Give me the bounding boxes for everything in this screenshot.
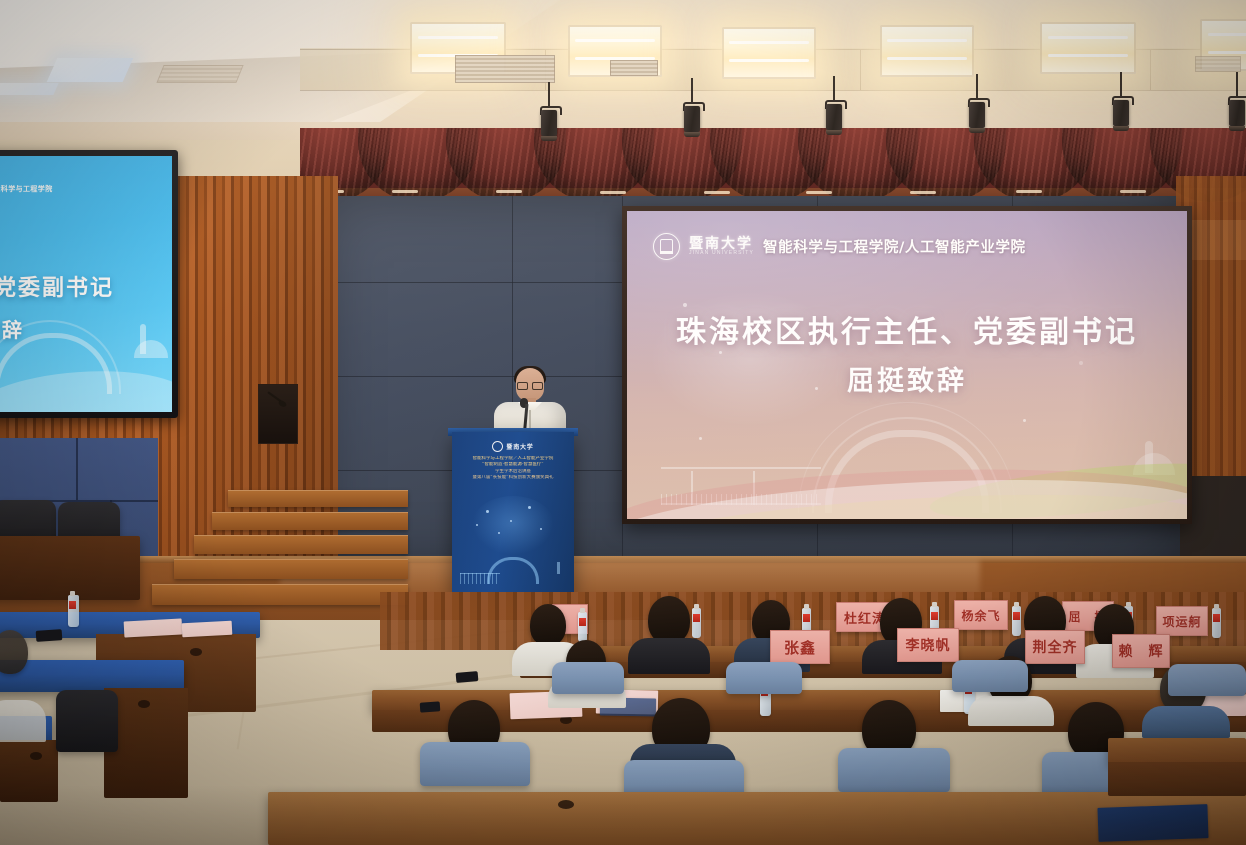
name-placard: 杨余飞 [954, 600, 1008, 630]
screen-header: 暨南大学 JINAN UNIVERSITY 智能科学与工程学院/人工智能产业学院 [653, 233, 1026, 260]
podium: 暨南大学 智能科学与工程学院／人工智能产业学院 “智能制造·智慧能源·智慧医疗”… [452, 432, 574, 592]
university-name-cn: 暨南大学 [689, 237, 754, 251]
water-bottle [692, 608, 701, 638]
university-name: 暨南大学 JINAN UNIVERSITY [689, 237, 754, 256]
podium-banner-text: 智能科学与工程学院／人工智能产业学院 “智能制造·智慧能源·智慧医疗” 学生学术… [458, 456, 568, 482]
water-bottle [68, 595, 79, 627]
water-bottle [578, 612, 587, 642]
ceiling-seam [1150, 50, 1151, 90]
side-desk [1108, 738, 1246, 764]
name-placard-label: 赖 辉 [1119, 641, 1164, 661]
projection-screen-frame: 暨南大学 JINAN UNIVERSITY 智能科学与工程学院/人工智能产业学院… [622, 206, 1192, 524]
side-display-screen: 智能科学与工程学院 主任、党委副书记 屈挺致辞 [0, 156, 172, 412]
water-bottle [1012, 606, 1021, 636]
ceiling-seam [860, 50, 861, 90]
desk-cable-hole [138, 700, 150, 708]
side-tv-department: 智能科学与工程学院 [0, 184, 53, 194]
ceiling-panel-light [880, 25, 974, 77]
smartphone [456, 671, 479, 683]
university-name-en: JINAN UNIVERSITY [689, 251, 754, 256]
podium-logo: 暨南大学 [452, 441, 574, 452]
glasses-icon [517, 382, 543, 388]
audience-person-head [648, 596, 690, 644]
name-placard-label: 荆全齐 [1033, 637, 1078, 657]
conference-hall-photo: 智能科学与工程学院 主任、党委副书记 屈挺致辞 暨南大学 JINAN UNIVE… [0, 0, 1246, 845]
ceiling-panel-light [1040, 22, 1136, 74]
desk-cable-hole [30, 752, 42, 760]
screen-department: 智能科学与工程学院/人工智能产业学院 [763, 236, 1026, 257]
screen-decorative-art [627, 387, 1187, 519]
foreground-desk-front [0, 740, 58, 802]
stage-spotlight [540, 82, 558, 144]
smartphone [420, 701, 441, 712]
document-paper [182, 621, 233, 638]
name-placard-label: 项运舸 [1162, 613, 1201, 630]
name-placard: 赖 辉 [1112, 634, 1170, 668]
podium-line-4: 暨第八届“长技能”科技创新大赛颁奖典礼 [458, 475, 568, 481]
stage-spotlight [1228, 72, 1246, 134]
stage-spotlight [825, 76, 843, 138]
name-placard-label: 杨余飞 [961, 607, 1000, 624]
name-placard-label: 张鑫 [784, 637, 816, 658]
ceiling-vent [156, 65, 243, 83]
name-placard: 荆全齐 [1025, 630, 1085, 664]
name-placard: 李晓帆 [897, 628, 959, 662]
audience-person-head [530, 604, 566, 646]
smartphone [36, 629, 63, 642]
water-bottle [1212, 608, 1221, 638]
tower-graphic [557, 562, 560, 574]
stage-spotlight [1112, 72, 1130, 134]
audience-chair [952, 660, 1028, 692]
microphone-icon [266, 390, 288, 412]
screen-title: 珠海校区执行主任、党委副书记 [627, 307, 1187, 351]
ceiling-flat-light [47, 58, 134, 82]
ceiling-vent [455, 55, 555, 83]
audience-chair [552, 662, 624, 694]
desk-cable-hole [190, 648, 202, 656]
name-placard-label: 李晓帆 [906, 635, 951, 655]
name-placard: 项运舸 [1156, 606, 1208, 636]
podium-org-name: 暨南大学 [506, 442, 533, 451]
audience-person-shoulders [0, 700, 46, 742]
stage-spotlight [968, 74, 986, 136]
projection-screen: 暨南大学 JINAN UNIVERSITY 智能科学与工程学院/人工智能产业学院… [627, 211, 1187, 519]
foreground-chair [56, 690, 118, 752]
document-paper [124, 618, 183, 637]
bridge-graphic [460, 573, 500, 584]
ceiling-vent [610, 60, 658, 76]
ceiling-flat-light [0, 83, 59, 95]
university-seal-icon [653, 233, 680, 260]
side-desk-front [1108, 762, 1246, 796]
conference-folder [1097, 804, 1208, 842]
ceiling-vent [1195, 56, 1241, 72]
university-seal-icon [492, 441, 503, 452]
podium-globe-graphic [471, 496, 555, 556]
audience-chair [838, 748, 950, 792]
ceiling-seam [300, 90, 1246, 91]
side-display-tv: 智能科学与工程学院 主任、党委副书记 屈挺致辞 [0, 150, 178, 418]
audience-chair [420, 742, 530, 786]
desk-cable-hole [558, 800, 574, 809]
audience-chair [726, 662, 802, 694]
audience-person-shoulders [1142, 706, 1230, 738]
ceiling-panel-light [722, 27, 816, 79]
audience-chair [1168, 664, 1246, 696]
side-tv-title: 主任、党委副书记 [0, 270, 114, 302]
audience-person-shoulders [628, 638, 710, 674]
stage-spotlight [683, 78, 701, 140]
audience-person-shoulders [968, 696, 1054, 726]
name-placard: 张鑫 [770, 630, 830, 664]
